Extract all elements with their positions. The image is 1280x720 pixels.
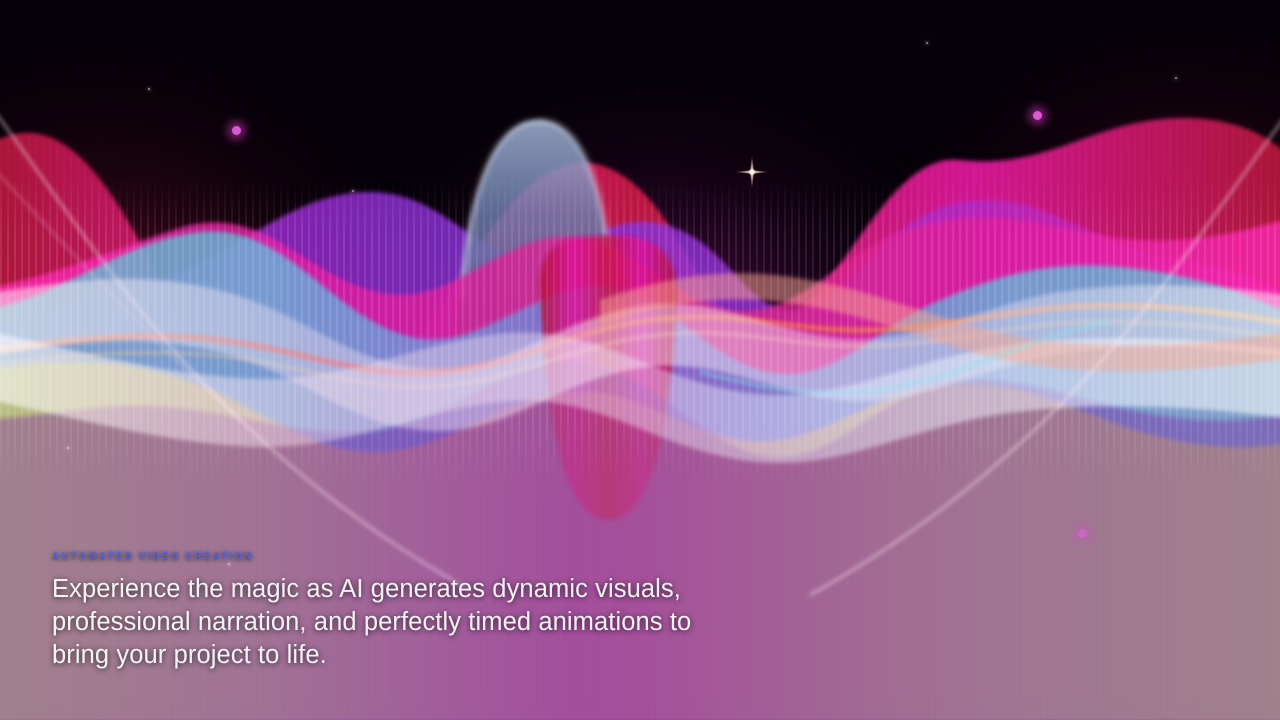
star-mid-left bbox=[67, 447, 69, 449]
four-point-star-sparkle bbox=[732, 152, 772, 192]
star-top-left bbox=[148, 88, 150, 90]
star-upper-mid bbox=[352, 190, 354, 192]
caption-eyebrow: AUTOMATED VIDEO CREATION bbox=[52, 552, 692, 562]
caption-block: AUTOMATED VIDEO CREATION Experience the … bbox=[52, 552, 692, 672]
particle-magenta-right bbox=[1033, 111, 1042, 120]
video-frame: AUTOMATED VIDEO CREATION Experience the … bbox=[0, 0, 1280, 720]
particle-magenta-low bbox=[1078, 529, 1087, 538]
particle-magenta-left bbox=[232, 126, 241, 135]
star-top-right bbox=[926, 42, 928, 44]
star-top-far-right bbox=[1175, 77, 1177, 79]
caption-headline: Experience the magic as AI generates dyn… bbox=[52, 573, 692, 672]
